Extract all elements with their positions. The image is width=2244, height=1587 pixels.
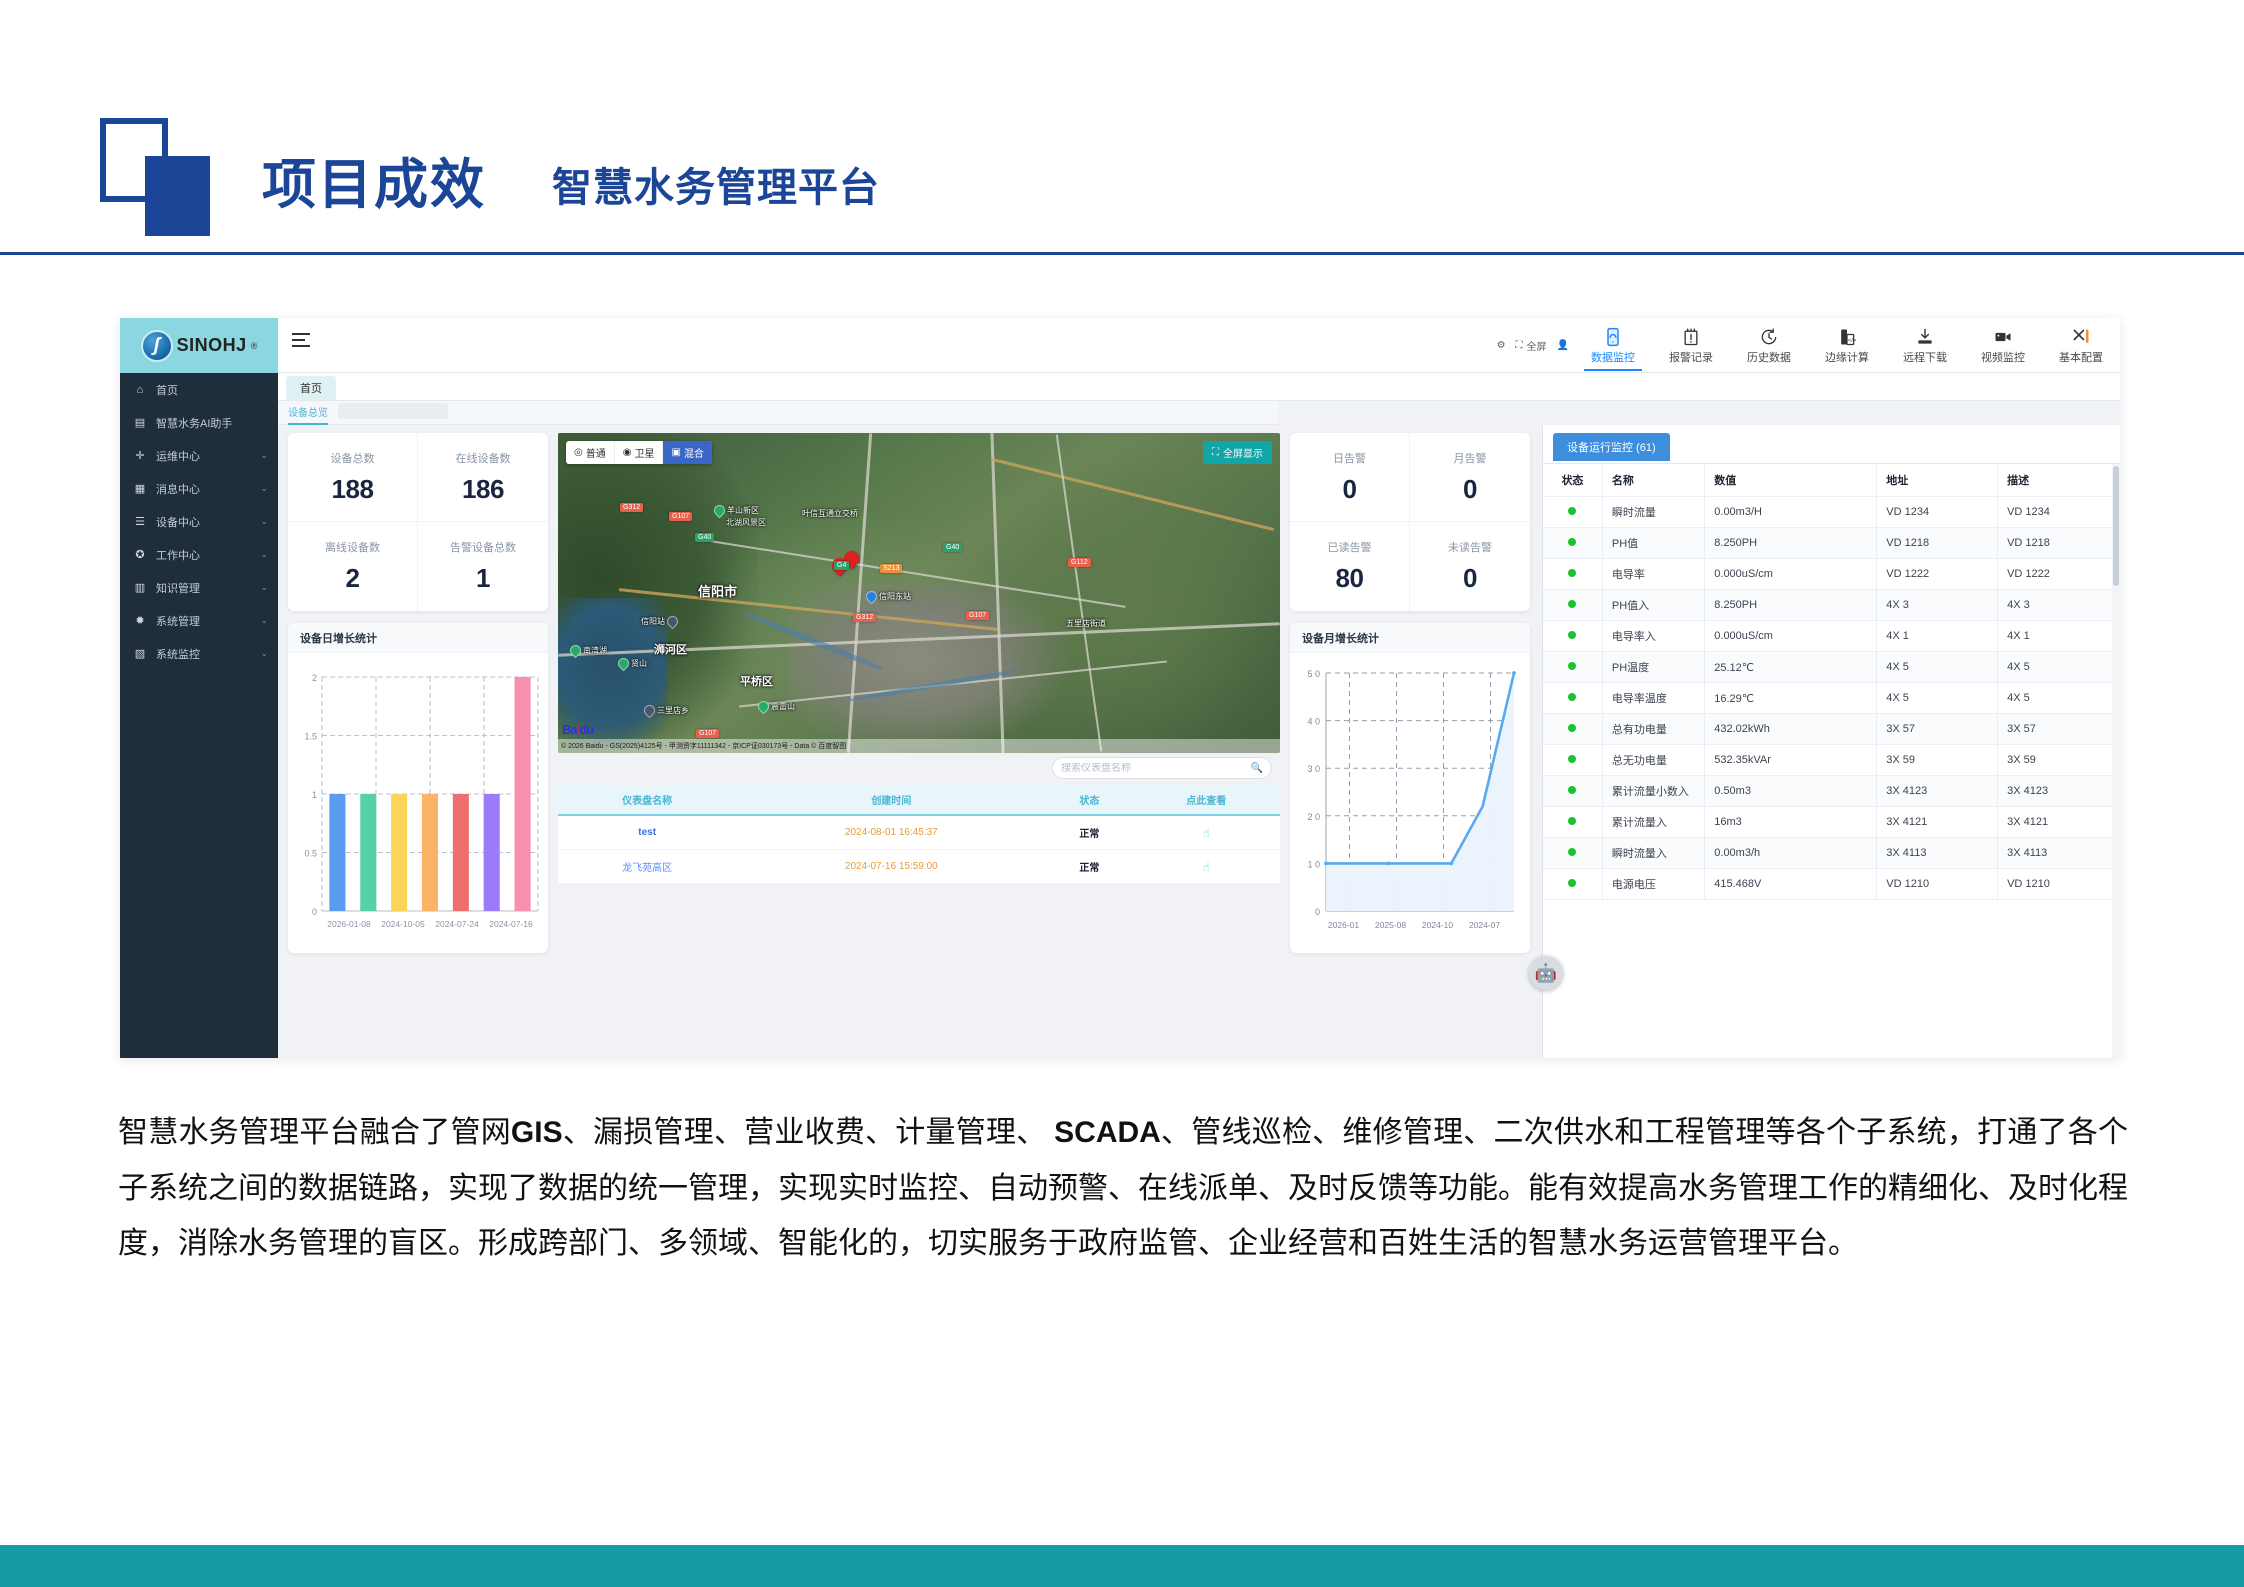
sidebar-item-label: 运维中心 (156, 448, 200, 464)
alarm-stats-card: 日告警 0 月告警 0 已读告警 80 未读告警 0 (1290, 433, 1530, 611)
status-cell (1543, 745, 1602, 776)
topbar: ⚙ ⛶ 全屏 👤 数据监控 (278, 318, 2120, 373)
book-icon: ▥ (132, 581, 148, 594)
column-header-status: 状态 (1543, 464, 1602, 497)
status-online-icon (1568, 538, 1576, 546)
device-name: 电导率温度 (1602, 683, 1704, 714)
device-value: 8.250PH (1705, 528, 1877, 559)
column-header-action: 点此查看 (1132, 785, 1280, 815)
svg-text:2026-01: 2026-01 (1328, 920, 1359, 930)
status-cell (1543, 590, 1602, 621)
device-address: 3X 57 (1877, 714, 1998, 745)
device-icon: ☰ (132, 515, 148, 528)
status-online-icon (1568, 507, 1576, 515)
search-icon[interactable]: 🔍 (1251, 763, 1263, 774)
road-badge: G4 (834, 561, 849, 570)
tab-label: 历史数据 (1747, 349, 1791, 365)
map-layer-plain[interactable]: ◎ 普通 (566, 441, 615, 464)
stat-daily-alarms: 日告警 0 (1290, 433, 1410, 522)
dashboard-name[interactable]: 龙飞苑高区 (558, 850, 736, 884)
monthly-growth-chart: 01 02 03 04 05 02026-012025-082024-10202… (1290, 653, 1530, 953)
device-name: 总有功电量 (1602, 714, 1704, 745)
sub-tab-placeholder (338, 403, 448, 419)
table-header-row: 状态 名称 数值 地址 描述 (1543, 464, 2120, 497)
bar-chart-svg: 00.511.522026-01-082024-10-052024-07-242… (288, 653, 548, 953)
road-badge: G107 (696, 729, 719, 738)
svg-text:4 0: 4 0 (1307, 717, 1320, 727)
road-badge: G112 (1068, 558, 1091, 567)
chart-title: 设备月增长统计 (1290, 623, 1530, 653)
sidebar-brand[interactable]: ʃ SINOHJ ® (120, 318, 278, 373)
map-layer-hybrid[interactable]: ▣ 混合 (663, 441, 711, 464)
map-layer-switch[interactable]: ◎ 普通 ◉ 卫星 ▣ 混合 (566, 441, 712, 464)
alarm-record-icon (1681, 327, 1701, 347)
device-value: 25.12℃ (1705, 652, 1877, 683)
sidebar-item-ai-assistant[interactable]: ▤ 智慧水务AI助手 (120, 406, 278, 439)
map-attribution: © 2026 Baidu - GS(2025)4125号 - 甲测资字11111… (558, 739, 1280, 753)
device-value: 415.468V (1705, 869, 1877, 900)
stat-value: 186 (462, 474, 504, 505)
table-row[interactable]: 电导率入0.000uS/cm4X 14X 1 (1543, 621, 2120, 652)
table-row[interactable]: 电导率0.000uS/cmVD 1222VD 1222 (1543, 559, 2120, 590)
sidebar-brand-label: SINOHJ (177, 335, 247, 356)
table-row[interactable]: 电源电压415.468VVD 1210VD 1210 (1543, 869, 2120, 900)
work-icon: ✪ (132, 548, 148, 561)
page-title: 项目成效 (262, 140, 486, 219)
stat-value: 2 (346, 563, 360, 594)
map-layer-label: 卫星 (634, 445, 654, 460)
stat-label: 在线设备数 (456, 450, 511, 466)
baidu-logo: Baidu (562, 722, 593, 737)
column-header-value: 数值 (1705, 464, 1877, 497)
stat-offline-devices: 离线设备数 2 (288, 522, 418, 611)
chevron-down-icon: ⌄ (260, 615, 268, 626)
tab-label: 视频监控 (1981, 349, 2025, 365)
status-cell (1543, 528, 1602, 559)
device-address: VD 1210 (1877, 869, 1998, 900)
road-badge: S213 (880, 564, 902, 573)
page-subtitle: 智慧水务管理平台 (552, 155, 880, 213)
device-value: 432.02kWh (1705, 714, 1877, 745)
column-header-name: 名称 (1602, 464, 1704, 497)
device-value: 0.50m3 (1705, 776, 1877, 807)
svg-text:0: 0 (1315, 907, 1320, 917)
tab-label: 基本配置 (2059, 349, 2103, 365)
device-address: 4X 1 (1877, 621, 1998, 652)
stat-label: 已读告警 (1328, 539, 1372, 555)
table-row[interactable]: PH温度25.12℃4X 54X 5 (1543, 652, 2120, 683)
map-layer-label: 混合 (684, 445, 704, 460)
road-badge: G312 (620, 503, 643, 512)
header-divider (0, 252, 2244, 255)
device-value: 0.000uS/cm (1705, 621, 1877, 652)
device-value: 16m3 (1705, 807, 1877, 838)
slide-footer-bar (0, 1545, 2244, 1587)
device-name: PH温度 (1602, 652, 1704, 683)
status-online-icon (1568, 693, 1576, 701)
tab-label: 边缘计算 (1825, 349, 1869, 365)
dashboard-search-box[interactable]: 🔍 (1052, 757, 1272, 779)
tab-edge-compute[interactable]: </> 边缘计算 (1808, 318, 1886, 373)
table-row[interactable]: 瞬时流量0.00m3/HVD 1234VD 1234 (1543, 497, 2120, 528)
device-address: 4X 5 (1877, 652, 1998, 683)
device-address: 3X 59 (1877, 745, 1998, 776)
status-cell (1543, 714, 1602, 745)
topbar-actions: ⚙ ⛶ 全屏 👤 数据监控 (1492, 318, 2120, 373)
video-camera-icon (1993, 327, 2013, 347)
download-icon (1915, 327, 1935, 347)
brand-logo-mark (100, 118, 210, 204)
svg-text:5 0: 5 0 (1307, 669, 1320, 679)
device-monitor-tab[interactable]: 设备运行监控 (61) (1553, 433, 1670, 461)
status-cell (1543, 683, 1602, 714)
tab-label: 报警记录 (1669, 349, 1713, 365)
robot-glyph: 🤖 (1535, 963, 1557, 984)
device-address: 3X 4123 (1877, 776, 1998, 807)
svg-text:2024-07: 2024-07 (1469, 920, 1500, 930)
stat-total-devices: 设备总数 188 (288, 433, 418, 522)
thumb-up-icon[interactable]: ☝ (1203, 860, 1210, 874)
status-online-icon (1568, 662, 1576, 670)
stat-value: 1 (476, 563, 490, 594)
sidebar-item-system-monitor[interactable]: ▧ 系统监控 ⌄ (120, 637, 278, 670)
body-keyword-gis: GIS (511, 1116, 563, 1149)
map-satellite-icon: ◉ (623, 447, 632, 458)
sidebar-item-label: 智慧水务AI助手 (156, 415, 232, 431)
thumb-up-icon[interactable]: ☝ (1203, 826, 1210, 840)
table-row[interactable]: 累计流量入16m33X 41213X 4121 (1543, 807, 2120, 838)
monitor-icon: ▧ (132, 647, 148, 660)
sidebar-item-work-center[interactable]: ✪ 工作中心 ⌄ (120, 538, 278, 571)
device-name: 累计流量小数入 (1602, 776, 1704, 807)
tab-label: 数据监控 (1591, 349, 1635, 365)
main-content: 设备总览 设备总数 188 在线设备数 186 离线设备数 2 告警设备总 (278, 401, 2120, 1058)
device-value: 16.29℃ (1705, 683, 1877, 714)
device-value: 0.00m3/h (1705, 838, 1877, 869)
tools-icon: ✛ (132, 449, 148, 462)
chart-title: 设备日增长统计 (288, 623, 548, 653)
svg-text:2026-01-08: 2026-01-08 (327, 919, 371, 929)
sidebar-item-label: 知识管理 (156, 580, 200, 596)
stat-value: 188 (332, 474, 374, 505)
device-name: 瞬时流量入 (1602, 838, 1704, 869)
device-desc: VD 1210 (1998, 869, 2120, 900)
device-address: 3X 4121 (1877, 807, 1998, 838)
device-name: 电导率入 (1602, 621, 1704, 652)
stat-label: 告警设备总数 (450, 539, 516, 555)
device-value: 532.35kVAr (1705, 745, 1877, 776)
history-clock-icon (1759, 327, 1779, 347)
stat-unread-alarms: 未读告警 0 (1410, 522, 1530, 611)
status-cell (1543, 559, 1602, 590)
svg-text:1.5: 1.5 (304, 732, 317, 742)
stat-monthly-alarms: 月告警 0 (1410, 433, 1530, 522)
sub-tab-device-overview[interactable]: 设备总览 (288, 404, 328, 425)
table-row[interactable]: 电导率温度16.29℃4X 54X 5 (1543, 683, 2120, 714)
device-value: 8.250PH (1705, 590, 1877, 621)
road-badge: G312 (853, 613, 876, 622)
dashboard-created: 2024-08-01 16:45:37 (736, 815, 1046, 850)
user-avatar-button[interactable]: 👤 (1552, 318, 1574, 373)
device-monitor-table: 状态 名称 数值 地址 描述 瞬时流量0.00m3/HVD 1234VD 123… (1543, 464, 2120, 900)
table-row[interactable]: 总有功电量432.02kWh3X 573X 57 (1543, 714, 2120, 745)
map-terrain (558, 433, 1280, 753)
road-badge: G107 (669, 512, 692, 521)
stat-label: 月告警 (1454, 450, 1487, 466)
status-online-icon (1568, 569, 1576, 577)
device-desc: 3X 59 (1998, 745, 2120, 776)
search-input[interactable] (1061, 763, 1251, 774)
device-desc: 3X 57 (1998, 714, 2120, 745)
status-cell (1543, 776, 1602, 807)
map-plain-icon: ◎ (574, 447, 583, 458)
stat-label: 日告警 (1333, 450, 1366, 466)
logo-solid-square (145, 156, 210, 236)
robot-icon[interactable]: 🤖 (1529, 956, 1563, 990)
device-name: 累计流量入 (1602, 807, 1704, 838)
stat-label: 离线设备数 (325, 539, 380, 555)
status-online-icon (1568, 817, 1576, 825)
page-tab-home[interactable]: 首页 (286, 376, 336, 400)
map-fullscreen-label: 全屏显示 (1223, 445, 1263, 460)
column-header-desc: 描述 (1998, 464, 2120, 497)
device-desc: VD 1222 (1998, 559, 2120, 590)
table-row[interactable]: 瞬时流量入0.00m3/h3X 41133X 4113 (1543, 838, 2120, 869)
svg-text:2025-08: 2025-08 (1375, 920, 1406, 930)
sidebar-item-system-admin[interactable]: ✹ 系统管理 ⌄ (120, 604, 278, 637)
dashboard-list-area: 🔍 仪表盘名称 创建时间 状态 点此查看 test (558, 757, 1280, 897)
page-tab-strip: 首页 (278, 373, 2120, 401)
data-monitor-icon (1603, 327, 1623, 347)
device-value: 0.00m3/H (1705, 497, 1877, 528)
device-name: 总无功电量 (1602, 745, 1704, 776)
gear-icon: ⚙ (1497, 340, 1506, 351)
svg-text:0.5: 0.5 (304, 849, 317, 859)
menu-collapse-icon[interactable] (292, 333, 310, 351)
column-header-status: 状态 (1046, 785, 1132, 815)
sidebar-item-label: 工作中心 (156, 547, 200, 563)
tab-alarm-record[interactable]: 报警记录 (1652, 318, 1730, 373)
stat-value: 80 (1336, 563, 1364, 594)
sidebar-item-label: 消息中心 (156, 481, 200, 497)
svg-text:1 0: 1 0 (1307, 859, 1320, 869)
chevron-down-icon: ⌄ (260, 516, 268, 527)
status-online-icon (1568, 724, 1576, 732)
status-cell (1543, 621, 1602, 652)
chevron-down-icon: ⌄ (260, 450, 268, 461)
device-monitor-panel: 设备运行监控 (61) 状态 名称 数值 地址 描述 (1542, 425, 2120, 1058)
dashboard-table: 仪表盘名称 创建时间 状态 点此查看 test 2024-08-01 16:45… (558, 785, 1280, 884)
device-name: 电导率 (1602, 559, 1704, 590)
tab-history-data[interactable]: 历史数据 (1730, 318, 1808, 373)
tab-remote-download[interactable]: 远程下载 (1886, 318, 1964, 373)
device-name: PH值 (1602, 528, 1704, 559)
status-cell (1543, 807, 1602, 838)
chevron-down-icon: ⌄ (260, 648, 268, 659)
device-desc: VD 1234 (1998, 497, 2120, 528)
column-header-created: 创建时间 (736, 785, 1046, 815)
map-fullscreen-button[interactable]: ⛶ 全屏显示 (1203, 441, 1272, 464)
stat-value: 0 (1463, 474, 1477, 505)
daily-growth-chart-card: 设备日增长统计 00.511.522026-01-082024-10-05202… (288, 623, 548, 953)
area-chart-svg: 01 02 03 04 05 02026-012025-082024-10202… (1290, 653, 1530, 953)
svg-text:1: 1 (312, 790, 317, 800)
status-online-icon (1568, 631, 1576, 639)
svg-text:2024-10-05: 2024-10-05 (381, 919, 425, 929)
sidebar-item-label: 首页 (156, 382, 178, 398)
edge-compute-icon: </> (1837, 327, 1857, 347)
status-badge: 正常 (1046, 815, 1132, 850)
status-cell (1543, 869, 1602, 900)
dashboard-name[interactable]: test (558, 815, 736, 850)
chevron-down-icon: ⌄ (260, 549, 268, 560)
device-address: VD 1234 (1877, 497, 1998, 528)
table-row[interactable]: 总无功电量532.35kVAr3X 593X 59 (1543, 745, 2120, 776)
status-online-icon (1568, 786, 1576, 794)
status-online-icon (1568, 600, 1576, 608)
svg-text:</>: </> (1848, 338, 1857, 344)
expand-icon: ⛶ (1516, 340, 1523, 351)
daily-growth-chart: 00.511.522026-01-082024-10-052024-07-242… (288, 653, 548, 953)
status-online-icon (1568, 755, 1576, 763)
device-name: PH值入 (1602, 590, 1704, 621)
status-cell (1543, 497, 1602, 528)
device-desc: 3X 4113 (1998, 838, 2120, 869)
sidebar: ʃ SINOHJ ® ⌂ 首页 ▤ 智慧水务AI助手 ✛ 运维中心 ⌄ ▦ 消息… (120, 318, 278, 1058)
wrench-tools-icon (2071, 327, 2091, 347)
body-keyword-scada: SCADA (1054, 1116, 1161, 1149)
body-text-1: 智慧水务管理平台融合了管网 (118, 1116, 511, 1149)
table-row[interactable]: PH值入8.250PH4X 34X 3 (1543, 590, 2120, 621)
app-screenshot: ʃ SINOHJ ® ⌂ 首页 ▤ 智慧水务AI助手 ✛ 运维中心 ⌄ ▦ 消息… (120, 318, 2120, 1058)
sidebar-item-ops-center[interactable]: ✛ 运维中心 ⌄ (120, 439, 278, 472)
table-scrollbar[interactable] (2112, 464, 2120, 1058)
device-desc: 3X 4123 (1998, 776, 2120, 807)
body-text-2: 、漏损管理、营业收费、计量管理、 (563, 1116, 1055, 1149)
chevron-down-icon: ⌄ (260, 483, 268, 494)
device-address: 4X 5 (1877, 683, 1998, 714)
sidebar-item-label: 设备中心 (156, 514, 200, 530)
sub-tab-row: 设备总览 (278, 401, 1278, 425)
svg-text:3 0: 3 0 (1307, 764, 1320, 774)
settings-button[interactable]: ⚙ (1492, 318, 1511, 373)
device-value: 0.000uS/cm (1705, 559, 1877, 590)
fullscreen-label: 全屏 (1527, 338, 1547, 353)
device-name: 电源电压 (1602, 869, 1704, 900)
user-icon: 👤 (1557, 340, 1569, 351)
stat-read-alarms: 已读告警 80 (1290, 522, 1410, 611)
column-header-address: 地址 (1877, 464, 1998, 497)
sidebar-item-label: 系统监控 (156, 646, 200, 662)
svg-text:2: 2 (312, 673, 317, 683)
stat-label: 未读告警 (1448, 539, 1492, 555)
home-icon: ⌂ (132, 384, 148, 396)
sidebar-item-home[interactable]: ⌂ 首页 (120, 373, 278, 406)
device-stats-card: 设备总数 188 在线设备数 186 离线设备数 2 告警设备总数 1 (288, 433, 548, 611)
device-desc: 4X 5 (1998, 683, 2120, 714)
stat-value: 0 (1463, 563, 1477, 594)
svg-text:2 0: 2 0 (1307, 812, 1320, 822)
map-layer-satellite[interactable]: ◉ 卫星 (615, 441, 664, 464)
map-hybrid-icon: ▣ (671, 447, 680, 458)
svg-text:2024-07-16: 2024-07-16 (489, 919, 533, 929)
svg-text:2024-10: 2024-10 (1422, 920, 1453, 930)
device-desc: 4X 3 (1998, 590, 2120, 621)
status-cell (1543, 652, 1602, 683)
stat-label: 设备总数 (331, 450, 375, 466)
table-header-row: 仪表盘名称 创建时间 状态 点此查看 (558, 785, 1280, 815)
device-address: 4X 3 (1877, 590, 1998, 621)
slide-body-paragraph: 智慧水务管理平台融合了管网GIS、漏损管理、营业收费、计量管理、 SCADA、管… (118, 1105, 2128, 1272)
device-map[interactable]: ◎ 普通 ◉ 卫星 ▣ 混合 ⛶ 全屏显示 (558, 433, 1280, 753)
tab-basic-config[interactable]: 基本配置 (2042, 318, 2120, 373)
device-address: VD 1222 (1877, 559, 1998, 590)
device-address: 3X 4113 (1877, 838, 1998, 869)
slide-header: 项目成效 智慧水务管理平台 (0, 0, 2244, 258)
table-row[interactable]: test 2024-08-01 16:45:37 正常 ☝ (558, 815, 1280, 850)
chat-icon: ▤ (132, 416, 148, 429)
expand-corners-icon: ⛶ (1212, 447, 1219, 458)
gear-icon: ✹ (132, 614, 148, 627)
stat-value: 0 (1343, 474, 1357, 505)
sidebar-item-device-center[interactable]: ☰ 设备中心 ⌄ (120, 505, 278, 538)
road-badge: G40 (695, 533, 714, 542)
table-row[interactable]: 累计流量小数入0.50m33X 41233X 4123 (1543, 776, 2120, 807)
map-layer-label: 普通 (586, 445, 606, 460)
road-badge: G40 (943, 543, 962, 552)
tab-label: 远程下载 (1903, 349, 1947, 365)
registered-mark: ® (251, 341, 258, 351)
svg-text:0: 0 (312, 907, 317, 917)
status-cell (1543, 838, 1602, 869)
dashboard-created: 2024-07-16 15:59:00 (736, 850, 1046, 884)
stat-alarm-devices: 告警设备总数 1 (418, 522, 548, 611)
sinohj-globe-icon: ʃ (141, 330, 173, 362)
tab-video-monitor[interactable]: 视频监控 (1964, 318, 2042, 373)
tab-data-monitor[interactable]: 数据监控 (1574, 318, 1652, 373)
column-header-name: 仪表盘名称 (558, 785, 736, 815)
sidebar-item-knowledge[interactable]: ▥ 知识管理 ⌄ (120, 571, 278, 604)
status-badge: 正常 (1046, 850, 1132, 884)
table-row[interactable]: PH值8.250PHVD 1218VD 1218 (1543, 528, 2120, 559)
status-online-icon (1568, 879, 1576, 887)
sidebar-item-label: 系统管理 (156, 613, 200, 629)
fullscreen-button[interactable]: ⛶ 全屏 (1511, 318, 1552, 373)
device-desc: VD 1218 (1998, 528, 2120, 559)
status-online-icon (1568, 848, 1576, 856)
table-row[interactable]: 龙飞苑高区 2024-07-16 15:59:00 正常 ☝ (558, 850, 1280, 884)
chevron-down-icon: ⌄ (260, 582, 268, 593)
svg-text:2024-07-24: 2024-07-24 (435, 919, 479, 929)
sidebar-item-message-center[interactable]: ▦ 消息中心 ⌄ (120, 472, 278, 505)
device-desc: 4X 5 (1998, 652, 2120, 683)
road-badge: G107 (966, 611, 989, 620)
stat-online-devices: 在线设备数 186 (418, 433, 548, 522)
device-desc: 3X 4121 (1998, 807, 2120, 838)
monthly-growth-chart-card: 设备月增长统计 01 02 03 04 05 02026-012025-0820… (1290, 623, 1530, 953)
device-address: VD 1218 (1877, 528, 1998, 559)
message-icon: ▦ (132, 482, 148, 495)
device-desc: 4X 1 (1998, 621, 2120, 652)
device-name: 瞬时流量 (1602, 497, 1704, 528)
